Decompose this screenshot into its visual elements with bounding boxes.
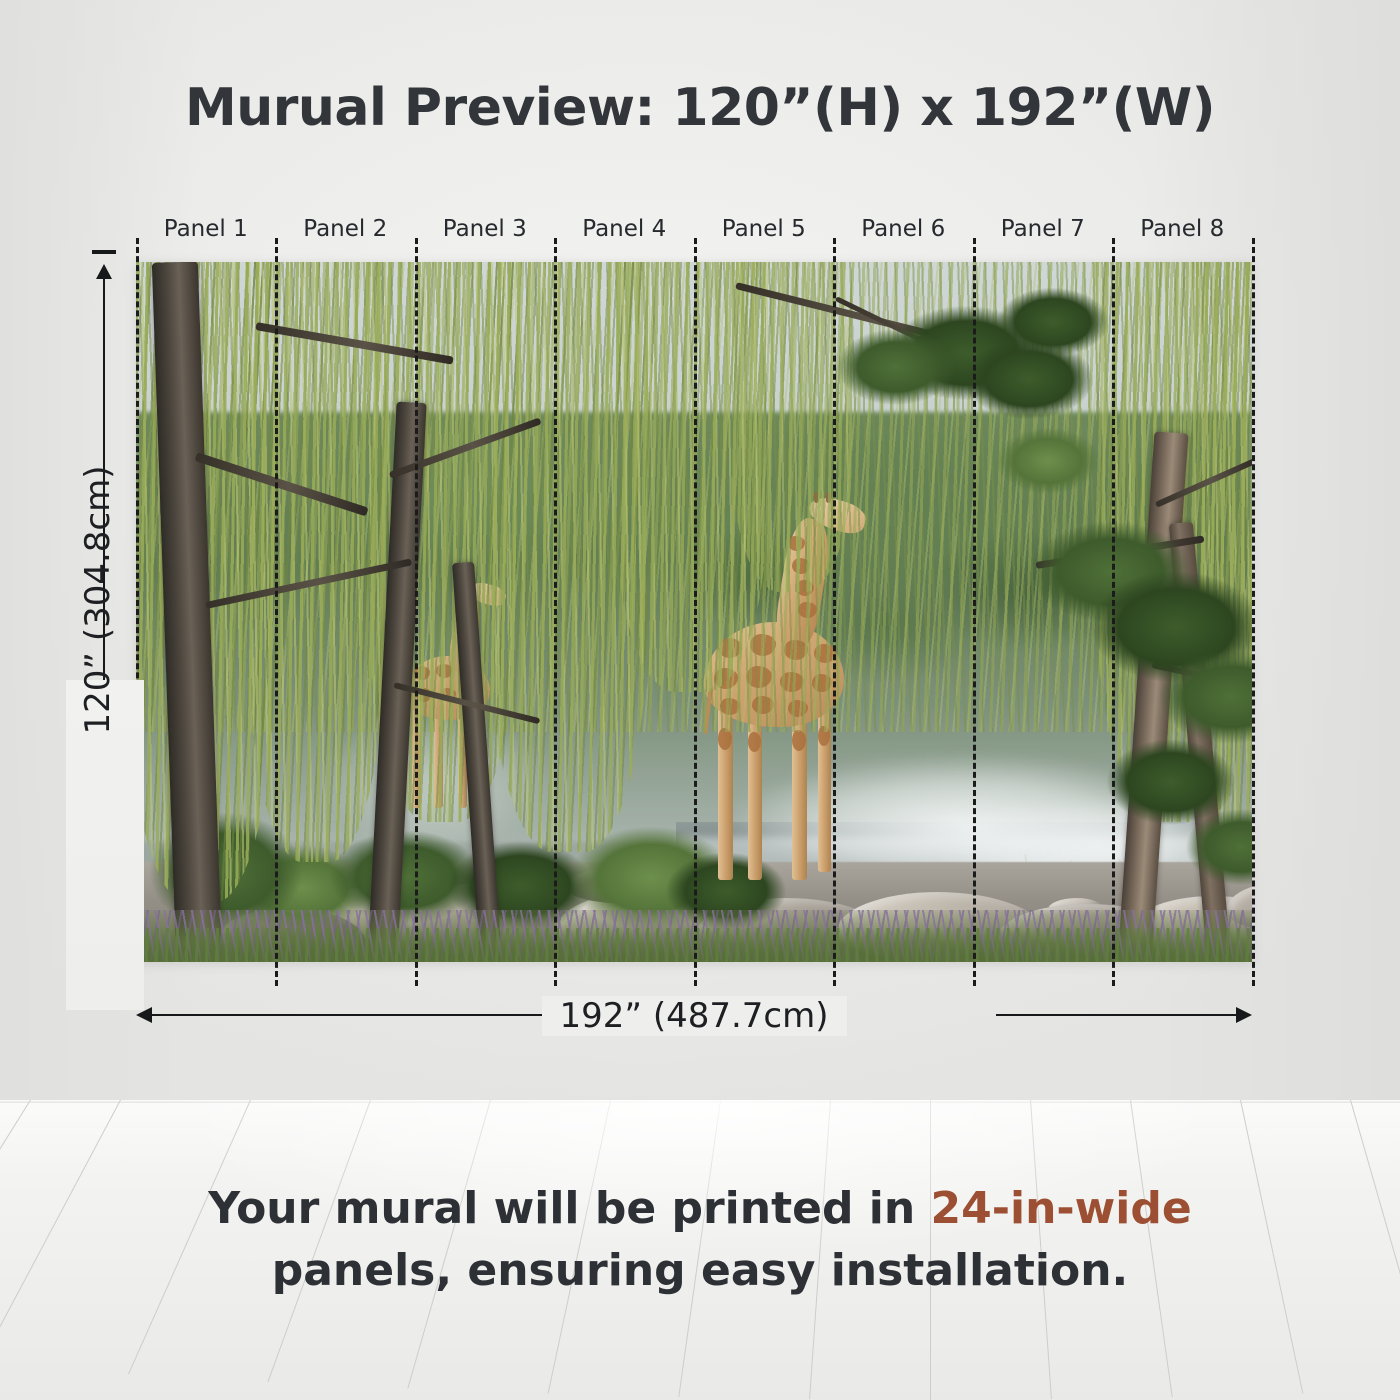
height-cap-top	[92, 250, 116, 254]
height-label: 120” (304.8cm)	[78, 320, 118, 880]
panel-divider-4	[694, 238, 697, 986]
leaf-cluster	[988, 422, 1108, 500]
panel-label-7: Panel 7	[973, 213, 1113, 245]
panel-label-2: Panel 2	[276, 213, 416, 245]
panel-label-1: Panel 1	[136, 213, 276, 245]
caption-text: Your mural will be printed in 24-in-wide…	[0, 1178, 1400, 1302]
panel-label-4: Panel 4	[555, 213, 695, 245]
caption-line-1-prefix: Your mural will be printed in	[208, 1183, 930, 1234]
panel-divider-7	[1112, 238, 1115, 986]
caption-line-1: Your mural will be printed in 24-in-wide	[0, 1178, 1400, 1240]
panel-label-3: Panel 3	[415, 213, 555, 245]
width-label-wrap: 192” (487.7cm)	[136, 988, 1252, 1044]
panel-divider-6	[973, 238, 976, 986]
panel-divider-2	[415, 238, 418, 986]
panel-label-6: Panel 6	[834, 213, 974, 245]
room-preview-scene: Murual Preview: 120”(H) x 192”(W) Panel …	[0, 0, 1400, 1400]
width-dimension: 192” (487.7cm)	[136, 988, 1252, 1044]
leaf-cluster	[826, 322, 966, 412]
willow-drape	[246, 262, 386, 862]
page-title: Murual Preview: 120”(H) x 192”(W)	[0, 78, 1400, 138]
panel-divider-5	[833, 238, 836, 986]
caption-line-2: panels, ensuring easy installation.	[0, 1240, 1400, 1302]
height-arrow-up	[96, 264, 112, 279]
panel-divider-8	[1252, 238, 1255, 986]
panel-label-5: Panel 5	[694, 213, 834, 245]
leaf-cluster	[988, 282, 1118, 362]
panel-divider-1	[275, 238, 278, 986]
height-dimension: 120” (304.8cm)	[60, 250, 150, 980]
width-label: 192” (487.7cm)	[542, 996, 847, 1036]
panel-label-8: Panel 8	[1113, 213, 1253, 245]
panel-divider-3	[554, 238, 557, 986]
caption-highlight: 24-in-wide	[931, 1183, 1192, 1234]
